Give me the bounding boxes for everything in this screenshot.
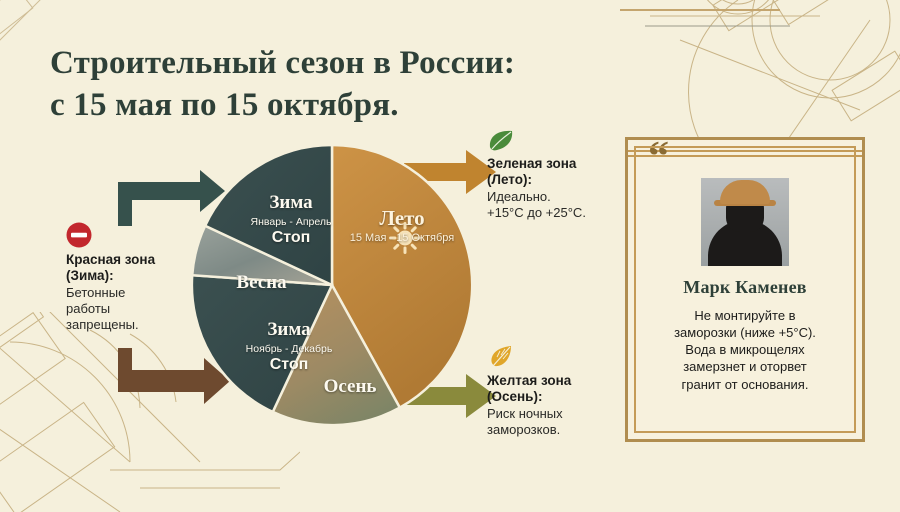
expert-quote-line-1: Не монтируйте в [674,307,816,324]
title-line-1: Строительный сезон в России: [50,45,515,81]
annotation-yellow-zone: Желтая зона (Осень): Риск ночных замороз… [487,345,637,438]
pie-svg [192,145,472,425]
card-inner: Марк Каменев Не монтируйте в заморозки (… [634,146,856,433]
green-leaf-icon [487,130,515,152]
sun-icon [388,221,422,255]
expert-quote-line-3: Вода в микрощелях [674,341,816,358]
avatar-helmet [720,180,770,204]
annotation-yellow-body-1: Риск ночных [487,406,637,422]
annotation-yellow-body-2: заморозков. [487,422,637,438]
yellow-leaf-icon [487,345,515,369]
expert-quote-line-4: замерзнет и оторвет [674,358,816,375]
expert-quote: Не монтируйте в заморозки (ниже +5°C). В… [674,307,816,393]
annotation-red-body-1: Бетонные [66,285,186,301]
annotation-green-zone: Зеленая зона (Лето): Идеально. +15°C до … [487,130,637,221]
expert-quote-line-5: гранит от основания. [674,376,816,393]
expert-name: Марк Каменев [683,277,806,298]
seasons-pie-chart: Лето 15 Мая - 15 Октября Зима Январь - А… [192,145,472,425]
expert-quote-card: “ Марк Каменев Не монтируйте в заморозки… [625,137,865,442]
annotation-red-zone: Красная зона (Зима): Бетонные работы зап… [66,222,186,334]
annotation-green-body-1: Идеально. [487,189,637,205]
annotation-green-heading-2: (Лето): [487,172,637,188]
annotation-red-body-2: работы [66,301,186,317]
annotation-green-heading-1: Зеленая зона [487,156,637,172]
avatar [701,178,789,266]
no-entry-icon [66,222,92,248]
annotation-red-heading-2: (Зима): [66,268,186,284]
annotation-yellow-heading-1: Желтая зона [487,373,637,389]
title-line-2: с 15 мая по 15 октября. [50,84,570,126]
annotation-green-body-2: +15°C до +25°C. [487,205,637,221]
expert-quote-line-2: заморозки (ниже +5°C). [674,324,816,341]
infographic-canvas: Строительный сезон в России: с 15 мая по… [0,0,900,502]
annotation-red-body-3: запрещены. [66,317,186,333]
annotation-yellow-heading-2: (Осень): [487,389,637,405]
annotation-red-heading-1: Красная зона [66,252,186,268]
page-title: Строительный сезон в России: с 15 мая по… [50,42,570,126]
